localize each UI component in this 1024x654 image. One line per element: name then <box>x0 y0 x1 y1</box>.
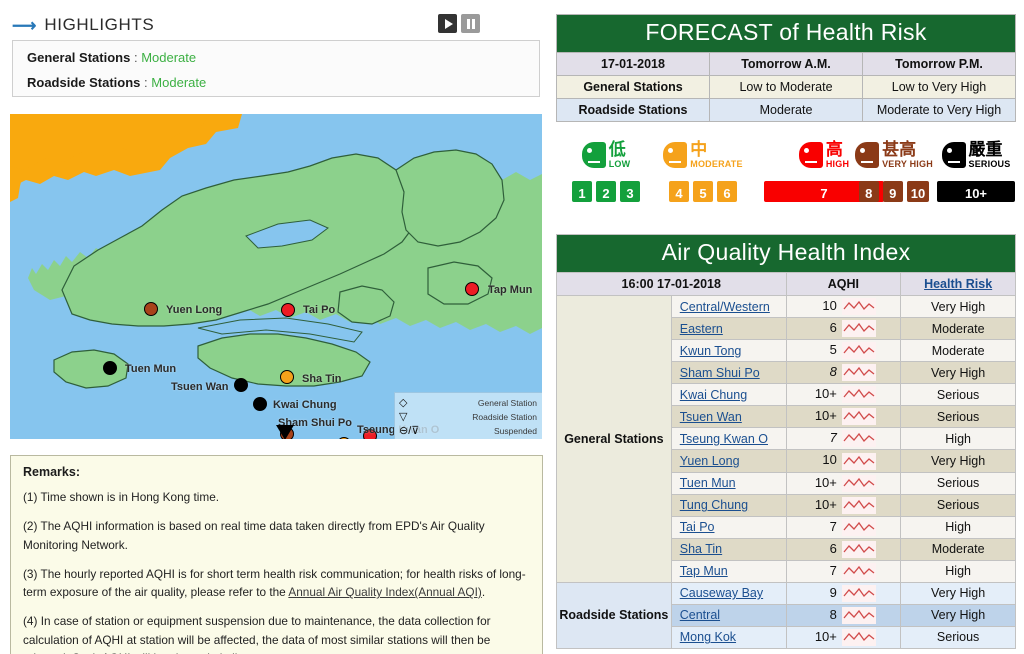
highlight-label: General Stations <box>27 50 130 65</box>
health-risk-legend: 低LOW123中MODERATE456高HIGH7甚高VERY HIGH8910… <box>556 132 1016 222</box>
station-link[interactable]: Kwun Tong <box>680 344 742 358</box>
aqhi-value-cell: 10 <box>786 450 901 472</box>
aqhi-value: 8 <box>811 364 837 379</box>
health-risk-value: High <box>901 428 1016 450</box>
forecast-am-value: Low to Moderate <box>710 76 863 99</box>
trend-sparkline-icon[interactable] <box>842 585 876 602</box>
highlight-separator: : <box>134 50 138 65</box>
health-risk-column-link[interactable]: Health Risk <box>924 277 992 291</box>
risk-label-english: VERY HIGH <box>882 160 933 169</box>
map-marker-kwai-chung[interactable] <box>253 397 267 411</box>
risk-label-chinese: 嚴重 <box>969 141 1011 158</box>
risk-label-english: LOW <box>609 160 631 169</box>
station-name-cell: Sha Tin <box>671 538 786 560</box>
health-risk-value: Serious <box>901 626 1016 648</box>
aqhi-value: 10+ <box>811 475 837 490</box>
station-link[interactable]: Eastern <box>680 322 723 336</box>
trend-sparkline-icon[interactable] <box>842 320 876 337</box>
health-risk-value: High <box>901 516 1016 538</box>
aqhi-col-value: AQHI <box>786 273 901 296</box>
station-link[interactable]: Tsuen Wan <box>680 410 742 424</box>
aqhi-value-cell: 10+ <box>786 626 901 648</box>
station-name-cell: Tap Mun <box>671 560 786 582</box>
station-name-cell: Sham Shui Po <box>671 362 786 384</box>
remarks-title: Remarks: <box>23 465 530 479</box>
map-label-tap-mun: Tap Mun <box>488 284 532 296</box>
trend-sparkline-icon[interactable] <box>842 342 876 359</box>
health-risk-value: Moderate <box>901 538 1016 560</box>
remark-item-1: (1) Time shown is in Hong Kong time. <box>23 488 530 506</box>
risk-number-badge: 10 <box>907 181 929 202</box>
station-link[interactable]: Central <box>680 608 720 622</box>
trend-sparkline-icon[interactable] <box>842 497 876 514</box>
station-name-cell: Mong Kok <box>671 626 786 648</box>
map-legend-label: Suspended <box>423 426 537 436</box>
map-label-kwai-chung: Kwai Chung <box>273 399 337 411</box>
risk-number-badge: 5 <box>693 181 713 202</box>
map-geometry <box>10 114 542 439</box>
map-legend-label: Roadside Station <box>423 412 537 422</box>
right-panel: FORECAST of Health Risk 17-01-2018 Tomor… <box>556 14 1016 649</box>
aqhi-value: 6 <box>811 541 837 556</box>
forecast-title: FORECAST of Health Risk <box>557 15 1016 53</box>
forecast-col-am: Tomorrow A.M. <box>710 53 863 76</box>
station-name-cell: Central/Western <box>671 296 786 318</box>
map-legend-roadside: ▽ Roadside Station <box>399 410 537 424</box>
risk-number-badge: 10+ <box>937 181 1015 202</box>
risk-face-icon <box>799 142 823 168</box>
aqhi-value-cell: 10+ <box>786 384 901 406</box>
station-name-cell: Kwun Tong <box>671 340 786 362</box>
remark-item-4: (4) In case of station or equipment susp… <box>23 612 530 654</box>
forecast-pm-value: Moderate to Very High <box>863 99 1016 122</box>
aqhi-value: 10 <box>811 298 837 313</box>
left-panel: ⟶ HIGHLIGHTS General Stations : Moderate… <box>0 0 552 654</box>
health-risk-value: Very High <box>901 296 1016 318</box>
forecast-row-general: General Stations Low to Moderate Low to … <box>557 76 1016 99</box>
risk-label-chinese: 低 <box>609 141 631 158</box>
hong-kong-aqhi-map[interactable]: Tap MunYuen LongTai PoTuen MunSha TinTsu… <box>10 114 542 439</box>
station-name-cell: Tuen Mun <box>671 472 786 494</box>
station-group-label: Roadside Stations <box>557 582 672 648</box>
trend-sparkline-icon[interactable] <box>842 607 876 624</box>
station-link[interactable]: Tap Mun <box>680 564 728 578</box>
highlight-separator: : <box>144 75 148 90</box>
media-controls <box>438 14 480 33</box>
aqhi-title: Air Quality Health Index <box>557 235 1016 273</box>
arrow-right-icon: ⟶ <box>12 17 36 34</box>
highlight-label: Roadside Stations <box>27 75 140 90</box>
aqhi-value-cell: 7 <box>786 560 901 582</box>
station-link[interactable]: Causeway Bay <box>680 586 763 600</box>
play-icon[interactable] <box>438 14 457 33</box>
aqhi-value: 10+ <box>811 629 837 644</box>
risk-label-chinese: 甚高 <box>882 141 933 158</box>
aqhi-value-cell: 10 <box>786 296 901 318</box>
highlights-box: General Stations : Moderate Roadside Sta… <box>12 40 540 97</box>
risk-legend-very-high: 甚高VERY HIGH8910 <box>844 132 944 202</box>
station-link[interactable]: Tseung Kwan O <box>680 432 768 446</box>
highlight-value: Moderate <box>141 50 196 65</box>
forecast-station-label: General Stations <box>557 76 710 99</box>
trend-sparkline-icon[interactable] <box>842 475 876 492</box>
table-row[interactable]: General StationsCentral/Western10Very Hi… <box>557 296 1016 318</box>
risk-number-badge: 3 <box>620 181 640 202</box>
suspended-station-icon: ⊖/⊽ <box>399 426 423 437</box>
health-risk-value: High <box>901 560 1016 582</box>
risk-number-badge: 2 <box>596 181 616 202</box>
forecast-date: 17-01-2018 <box>557 53 710 76</box>
highlight-value: Moderate <box>151 75 206 90</box>
risk-face-icon <box>942 142 966 168</box>
trend-sparkline-icon[interactable] <box>842 629 876 646</box>
health-risk-value: Very High <box>901 362 1016 384</box>
highlights-title: HIGHLIGHTS <box>44 15 154 35</box>
highlight-row-roadside: Roadside Stations : Moderate <box>27 75 525 91</box>
remark-item-3: (3) The hourly reported AQHI is for shor… <box>23 565 530 602</box>
pause-icon[interactable] <box>461 14 480 33</box>
risk-face-icon <box>663 142 687 168</box>
map-label-tsuen-wan: Tsuen Wan <box>171 381 228 393</box>
health-risk-value: Serious <box>901 384 1016 406</box>
map-marker-tuen-mun[interactable] <box>103 361 117 375</box>
health-risk-value: Serious <box>901 494 1016 516</box>
aqhi-timestamp: 16:00 17-01-2018 <box>557 273 787 296</box>
page-root: ⟶ HIGHLIGHTS General Stations : Moderate… <box>0 0 1024 654</box>
aqhi-value: 9 <box>811 585 837 600</box>
forecast-header-row: 17-01-2018 Tomorrow A.M. Tomorrow P.M. <box>557 53 1016 76</box>
aqhi-value: 7 <box>811 519 837 534</box>
risk-number-badge: 1 <box>572 181 592 202</box>
health-risk-value: Moderate <box>901 340 1016 362</box>
map-marker-sha-tin[interactable] <box>280 370 294 384</box>
risk-face-icon <box>855 142 879 168</box>
station-link[interactable]: Tai Po <box>680 520 715 534</box>
station-name-cell: Yuen Long <box>671 450 786 472</box>
station-name-cell: Central <box>671 604 786 626</box>
station-name-cell: Tai Po <box>671 516 786 538</box>
annual-aqi-link[interactable]: Annual Air Quality Index(Annual AQI) <box>288 585 481 599</box>
health-risk-value: Very High <box>901 450 1016 472</box>
health-risk-value: Very High <box>901 604 1016 626</box>
map-legend: ◇ General Station ▽ Roadside Station ⊖/⊽… <box>394 392 542 439</box>
forecast-title-row: FORECAST of Health Risk <box>557 15 1016 53</box>
health-risk-value: Serious <box>901 472 1016 494</box>
map-label-tai-po: Tai Po <box>303 304 335 316</box>
map-marker-tsuen-wan[interactable] <box>234 378 248 392</box>
aqhi-table-body: General StationsCentral/Western10Very Hi… <box>557 296 1016 649</box>
highlight-row-general: General Stations : Moderate <box>27 50 525 66</box>
map-legend-label: General Station <box>423 398 537 408</box>
aqhi-section: Air Quality Health Index 16:00 17-01-201… <box>556 234 1016 649</box>
risk-label-english: SERIOUS <box>969 160 1011 169</box>
risk-legend-moderate: 中MODERATE456 <box>653 132 753 202</box>
aqhi-value-cell: 9 <box>786 582 901 604</box>
trend-sparkline-icon[interactable] <box>842 408 876 425</box>
health-risk-value: Moderate <box>901 318 1016 340</box>
station-link[interactable]: Mong Kok <box>680 630 736 644</box>
station-name-cell: Tsuen Wan <box>671 406 786 428</box>
station-name-cell: Eastern <box>671 318 786 340</box>
health-risk-value: Very High <box>901 582 1016 604</box>
health-risk-value: Serious <box>901 406 1016 428</box>
trend-sparkline-icon[interactable] <box>842 386 876 403</box>
aqhi-value-cell: 10+ <box>786 406 901 428</box>
aqhi-value: 7 <box>811 430 837 445</box>
aqhi-value-cell: 8 <box>786 604 901 626</box>
aqhi-value: 10 <box>811 452 837 467</box>
station-link[interactable]: Tung Chung <box>680 498 748 512</box>
forecast-pm-value: Low to Very High <box>863 76 1016 99</box>
table-row[interactable]: Roadside StationsCauseway Bay9Very High <box>557 582 1016 604</box>
roadside-station-icon: ▽ <box>399 412 423 423</box>
forecast-row-roadside: Roadside Stations Moderate Moderate to V… <box>557 99 1016 122</box>
aqhi-value-cell: 10+ <box>786 472 901 494</box>
station-name-cell: Causeway Bay <box>671 582 786 604</box>
trend-sparkline-icon[interactable] <box>842 298 876 315</box>
aqhi-value-cell: 6 <box>786 538 901 560</box>
forecast-col-pm: Tomorrow P.M. <box>863 53 1016 76</box>
general-station-icon: ◇ <box>399 398 423 409</box>
aqhi-value-cell: 6 <box>786 318 901 340</box>
map-label-yuen-long: Yuen Long <box>166 304 222 316</box>
station-link[interactable]: Central/Western <box>680 300 770 314</box>
highlights-header: ⟶ HIGHLIGHTS <box>12 12 540 38</box>
risk-face-icon <box>582 142 606 168</box>
station-name-cell: Tung Chung <box>671 494 786 516</box>
map-marker-tap-mun[interactable] <box>465 282 479 296</box>
map-legend-suspended: ⊖/⊽ Suspended <box>399 424 537 438</box>
map-marker-mong-kok[interactable] <box>276 425 294 439</box>
aqhi-value: 10+ <box>811 386 837 401</box>
trend-sparkline-icon[interactable] <box>842 364 876 381</box>
forecast-am-value: Moderate <box>710 99 863 122</box>
risk-legend-serious: 嚴重SERIOUS10+ <box>933 132 1019 202</box>
aqhi-value: 10+ <box>811 497 837 512</box>
station-link[interactable]: Yuen Long <box>680 454 740 468</box>
risk-label-chinese: 中 <box>690 141 742 158</box>
remark-period: . <box>482 585 485 599</box>
map-marker-tai-po[interactable] <box>281 303 295 317</box>
trend-sparkline-icon[interactable] <box>842 453 876 470</box>
risk-number-badge: 9 <box>883 181 903 202</box>
station-link[interactable]: Tuen Mun <box>680 476 736 490</box>
map-legend-general: ◇ General Station <box>399 396 537 410</box>
risk-number-badge: 6 <box>717 181 737 202</box>
station-link[interactable]: Sha Tin <box>680 542 722 556</box>
station-link[interactable]: Sham Shui Po <box>680 366 760 380</box>
trend-sparkline-icon[interactable] <box>842 563 876 580</box>
station-group-label: General Stations <box>557 296 672 583</box>
aqhi-value-cell: 10+ <box>786 494 901 516</box>
map-label-tuen-mun: Tuen Mun <box>125 363 176 375</box>
aqhi-value-cell: 8 <box>786 362 901 384</box>
remark-item-2: (2) The AQHI information is based on rea… <box>23 517 530 554</box>
station-link[interactable]: Kwai Chung <box>680 388 747 402</box>
forecast-table: FORECAST of Health Risk 17-01-2018 Tomor… <box>556 14 1016 122</box>
aqhi-table: Air Quality Health Index 16:00 17-01-201… <box>556 234 1016 649</box>
trend-sparkline-icon[interactable] <box>842 519 876 536</box>
remarks-box: Remarks: (1) Time shown is in Hong Kong … <box>10 455 543 654</box>
aqhi-value: 6 <box>811 320 837 335</box>
map-label-sha-tin: Sha Tin <box>302 373 342 385</box>
risk-label-english: MODERATE <box>690 160 742 169</box>
forecast-station-label: Roadside Stations <box>557 99 710 122</box>
aqhi-value: 7 <box>811 563 837 578</box>
trend-sparkline-icon[interactable] <box>842 541 876 558</box>
risk-legend-low: 低LOW123 <box>556 132 656 202</box>
aqhi-title-row: Air Quality Health Index <box>557 235 1016 273</box>
aqhi-value-cell: 7 <box>786 516 901 538</box>
aqhi-value: 10+ <box>811 408 837 423</box>
station-name-cell: Tseung Kwan O <box>671 428 786 450</box>
aqhi-value-cell: 5 <box>786 340 901 362</box>
aqhi-value-cell: 7 <box>786 428 901 450</box>
trend-sparkline-icon[interactable] <box>842 430 876 447</box>
station-name-cell: Kwai Chung <box>671 384 786 406</box>
aqhi-value: 8 <box>811 607 837 622</box>
aqhi-value: 5 <box>811 342 837 357</box>
risk-number-badge: 4 <box>669 181 689 202</box>
risk-number-badge: 8 <box>859 181 879 202</box>
aqhi-header-row: 16:00 17-01-2018 AQHI Health Risk <box>557 273 1016 296</box>
map-marker-yuen-long[interactable] <box>144 302 158 316</box>
